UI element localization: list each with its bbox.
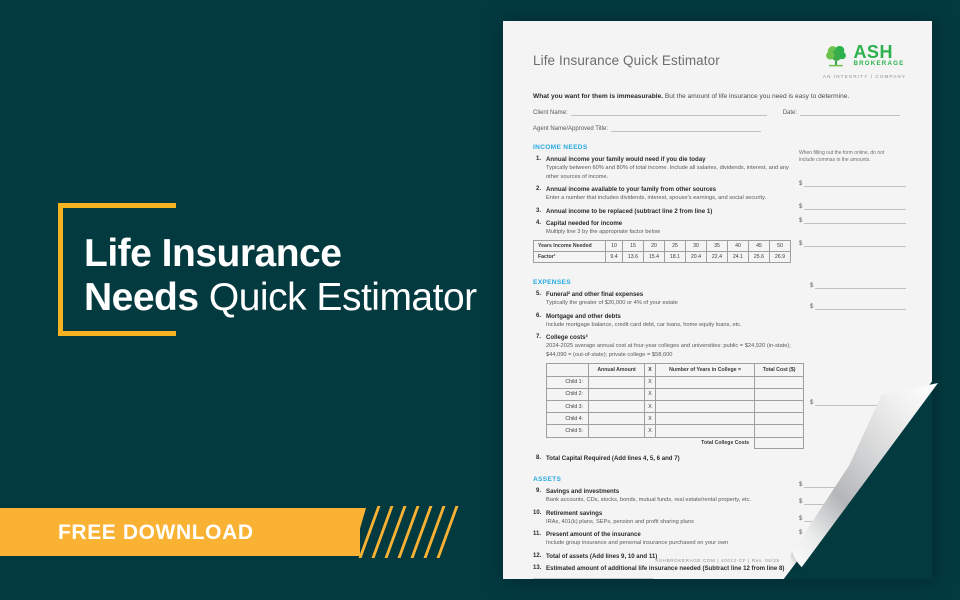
item-title-suffix: (Add lines 4, 5, 6 and 7) bbox=[610, 455, 679, 462]
factor-year-cell: 40 bbox=[727, 241, 748, 252]
promo-title-line1: Life Insurance bbox=[84, 232, 504, 276]
col-header-annual-amount: Annual Amount bbox=[589, 364, 645, 376]
times-symbol: X bbox=[645, 388, 656, 400]
list-item: 11. Present amount of the insurance Incl… bbox=[533, 531, 793, 548]
child-total-input[interactable] bbox=[755, 388, 804, 400]
table-row: Child 5: X bbox=[547, 425, 804, 437]
document-header: Life Insurance Quick Estimator bbox=[533, 43, 906, 80]
list-item: 2. Annual income available to your famil… bbox=[533, 186, 793, 203]
document-title: Life Insurance Quick Estimator bbox=[533, 53, 720, 68]
child-total-input[interactable] bbox=[755, 425, 804, 437]
college-costs-table[interactable]: Annual Amount X Number of Years in Colle… bbox=[546, 363, 804, 449]
amount-input-5[interactable] bbox=[815, 281, 906, 289]
child-label: Child 2: bbox=[547, 388, 589, 400]
table-header-row: Annual Amount X Number of Years in Colle… bbox=[547, 364, 804, 376]
dollar-sign-icon: $ bbox=[799, 516, 802, 522]
item-title: Annual income to be replaced bbox=[546, 208, 633, 215]
promo-title-line2: Needs Quick Estimator bbox=[84, 276, 504, 320]
list-item: 6. Mortgage and other debts Include mort… bbox=[533, 313, 804, 330]
amount-line-4[interactable]: $ bbox=[799, 239, 906, 247]
item-title: Annual income your family would need if … bbox=[546, 156, 705, 163]
table-total-row: Total College Costs bbox=[547, 437, 804, 449]
child-annual-input[interactable] bbox=[589, 376, 645, 388]
ash-brokerage-logo: ASH BROKERAGE AN INTEGRITY Ⅰ COMPANY bbox=[823, 43, 906, 80]
child-years-input[interactable] bbox=[655, 425, 754, 437]
table-row: Years Income Needed 10 15 20 25 30 35 40… bbox=[534, 241, 791, 252]
logo-tagline: AN INTEGRITY Ⅰ COMPANY bbox=[823, 74, 906, 80]
factor-table: Years Income Needed 10 15 20 25 30 35 40… bbox=[533, 240, 791, 263]
list-item: 3. Annual income to be replaced (subtrac… bbox=[533, 208, 793, 215]
total-college-costs-label: Total College Costs bbox=[655, 437, 754, 449]
child-annual-input[interactable] bbox=[589, 400, 645, 412]
dollar-sign-icon: $ bbox=[799, 204, 802, 210]
item-description: Typically the greater of $20,000 or 4% o… bbox=[546, 299, 804, 308]
child-years-input[interactable] bbox=[655, 376, 754, 388]
document-preview[interactable]: Life Insurance Quick Estimator bbox=[503, 21, 932, 579]
child-label: Child 4: bbox=[547, 413, 589, 425]
agent-name-input[interactable] bbox=[611, 124, 761, 132]
logo-name: ASH bbox=[853, 43, 904, 61]
times-symbol: X bbox=[645, 425, 656, 437]
item-number: 4. bbox=[533, 220, 546, 237]
col-header-years-in-college: Number of Years in College = bbox=[655, 364, 754, 376]
dollar-sign-icon: $ bbox=[799, 181, 802, 187]
factor-value-cell: 25.6 bbox=[748, 252, 769, 263]
item-description: Typically between 60% and 80% of total i… bbox=[546, 164, 793, 181]
amount-line-6[interactable]: $ bbox=[810, 302, 906, 310]
dollar-sign-icon: $ bbox=[799, 482, 802, 488]
list-item: 13. Estimated amount of additional life … bbox=[533, 565, 793, 572]
tagline-rest: But the amount of life insurance you nee… bbox=[663, 93, 849, 100]
item-title: Capital needed for income bbox=[546, 220, 622, 227]
online-form-note: When filling out the form online, do not… bbox=[799, 150, 895, 165]
child-label: Child 5: bbox=[547, 425, 589, 437]
table-row: Child 3: X bbox=[547, 400, 804, 412]
factor-value-cell: 18.1 bbox=[664, 252, 685, 263]
item-title-suffix: (subtract line 2 from line 1) bbox=[633, 208, 713, 215]
dollar-sign-icon: $ bbox=[799, 499, 802, 505]
amount-line-3[interactable]: $ bbox=[799, 216, 906, 224]
factor-year-cell: 15 bbox=[622, 241, 643, 252]
child-total-input[interactable] bbox=[755, 413, 804, 425]
promo-title-bold: Needs bbox=[84, 276, 199, 319]
item-description: Include mortgage balance, credit card de… bbox=[546, 321, 804, 330]
logo-subtitle: BROKERAGE bbox=[853, 61, 904, 67]
amount-input-4[interactable] bbox=[804, 239, 906, 247]
amount-line-2[interactable]: $ bbox=[799, 202, 906, 210]
item-title: Present amount of the insurance bbox=[546, 531, 641, 538]
item-number: 3. bbox=[533, 208, 546, 215]
factor-year-cell: 30 bbox=[685, 241, 706, 252]
factor-value-cell: 24.1 bbox=[727, 252, 748, 263]
times-symbol: X bbox=[645, 413, 656, 425]
factor-value-cell: 13.6 bbox=[622, 252, 643, 263]
date-label: Date: bbox=[783, 110, 797, 116]
col-header-times: X bbox=[645, 364, 656, 376]
times-symbol: X bbox=[645, 376, 656, 388]
child-years-input[interactable] bbox=[655, 388, 754, 400]
section-heading-income-needs: INCOME NEEDS bbox=[533, 144, 793, 151]
item-description: Include group insurance and personal ins… bbox=[546, 539, 793, 548]
item-number: 5. bbox=[533, 291, 546, 308]
factor-value-cell: 22.4 bbox=[706, 252, 727, 263]
promo-title-light: Quick Estimator bbox=[209, 276, 477, 319]
table-row: Factor¹ 9.4 13.6 15.4 18.1 20.4 22.4 24.… bbox=[534, 252, 791, 263]
decorative-stripes bbox=[368, 508, 460, 556]
child-label: Child 1: bbox=[547, 376, 589, 388]
child-annual-input[interactable] bbox=[589, 425, 645, 437]
factor-year-cell: 35 bbox=[706, 241, 727, 252]
factor-year-cell: 10 bbox=[606, 241, 623, 252]
dollar-sign-icon: $ bbox=[799, 218, 802, 224]
section-heading-assets: ASSETS bbox=[533, 476, 793, 483]
amount-input-1[interactable] bbox=[804, 179, 906, 187]
free-download-banner[interactable]: FREE DOWNLOAD bbox=[0, 508, 420, 556]
dollar-sign-icon: $ bbox=[810, 400, 813, 406]
amount-line-1[interactable]: $ bbox=[799, 179, 906, 187]
client-name-field[interactable]: Client Name: bbox=[533, 108, 767, 116]
section-heading-expenses: EXPENSES bbox=[533, 279, 804, 286]
item-description: IRAs, 401(k) plans, SEPs, pension and pr… bbox=[546, 518, 793, 527]
dollar-sign-icon: $ bbox=[799, 241, 802, 247]
item-title: Retirement savings bbox=[546, 510, 602, 517]
item-number: 6. bbox=[533, 313, 546, 330]
list-item: 10. Retirement savings IRAs, 401(k) plan… bbox=[533, 510, 793, 527]
factor-table-row-label-factor: Factor¹ bbox=[534, 252, 606, 263]
item-title: Estimated amount of additional life insu… bbox=[546, 565, 701, 572]
item-number: 13. bbox=[533, 565, 546, 572]
item-title: Total Capital Required bbox=[546, 455, 610, 462]
free-download-label: FREE DOWNLOAD bbox=[58, 521, 254, 545]
item-number: 7. bbox=[533, 334, 546, 449]
col-header-blank bbox=[547, 364, 589, 376]
date-field[interactable]: Date: bbox=[783, 108, 900, 116]
item-description: Bank accounts, CDs, stocks, bonds, mutua… bbox=[546, 496, 793, 505]
client-name-input[interactable] bbox=[571, 108, 767, 116]
child-annual-input[interactable] bbox=[589, 388, 645, 400]
item-title: College costs³ bbox=[546, 334, 588, 341]
child-years-input[interactable] bbox=[655, 413, 754, 425]
item-description: Enter a number that includes dividends, … bbox=[546, 194, 793, 203]
tagline-bold: What you want for them is immeasurable. bbox=[533, 93, 663, 100]
client-name-label: Client Name: bbox=[533, 110, 568, 116]
item-title: Annual income available to your family f… bbox=[546, 186, 716, 193]
item-title: Mortgage and other debts bbox=[546, 313, 621, 320]
factor-value-cell: 26.9 bbox=[769, 252, 790, 263]
list-item: 4. Capital needed for income Multiply li… bbox=[533, 220, 793, 237]
item-number: 2. bbox=[533, 186, 546, 203]
tree-icon bbox=[824, 43, 849, 68]
list-item: 8. Total Capital Required (Add lines 4, … bbox=[533, 455, 804, 462]
factor-year-cell: 25 bbox=[664, 241, 685, 252]
amount-input-6[interactable] bbox=[815, 302, 906, 310]
footnote-divider bbox=[533, 578, 653, 579]
table-row: Child 2: X bbox=[547, 388, 804, 400]
date-input[interactable] bbox=[800, 108, 900, 116]
promo-title: Life Insurance Needs Quick Estimator bbox=[84, 232, 504, 319]
amount-input-2[interactable] bbox=[804, 202, 906, 210]
list-item: 5. Funeral² and other final expenses Typ… bbox=[533, 291, 804, 308]
factor-year-cell: 20 bbox=[643, 241, 664, 252]
item-description: Multiply line 3 by the appropriate facto… bbox=[546, 228, 793, 237]
item-number: 10. bbox=[533, 510, 546, 527]
factor-year-cell: 45 bbox=[748, 241, 769, 252]
income-amounts-column: When filling out the form online, do not… bbox=[793, 132, 906, 263]
item-number: 9. bbox=[533, 488, 546, 505]
table-row: Child 4: X bbox=[547, 413, 804, 425]
item-title: Savings and investments bbox=[546, 488, 619, 495]
list-item: 1. Annual income your family would need … bbox=[533, 156, 793, 181]
child-total-input[interactable] bbox=[755, 400, 804, 412]
dollar-sign-icon: $ bbox=[799, 530, 802, 536]
document-tagline: What you want for them is immeasurable. … bbox=[533, 93, 906, 100]
client-field-row: Client Name: Date: bbox=[533, 108, 906, 116]
item-number: 1. bbox=[533, 156, 546, 181]
item-title: Funeral² and other final expenses bbox=[546, 291, 643, 298]
col-header-total-cost: Total Cost ($) bbox=[755, 364, 804, 376]
agent-field-row: Agent Name/Approved Title: bbox=[533, 124, 906, 132]
times-symbol: X bbox=[645, 400, 656, 412]
child-years-input[interactable] bbox=[655, 400, 754, 412]
child-annual-input[interactable] bbox=[589, 413, 645, 425]
list-item: 7. College costs³ 2024-2025 average annu… bbox=[533, 334, 804, 449]
factor-table-row-label-years: Years Income Needed bbox=[534, 241, 606, 252]
dollar-sign-icon: $ bbox=[810, 304, 813, 310]
dollar-sign-icon: $ bbox=[810, 283, 813, 289]
list-item: 9. Savings and investments Bank accounts… bbox=[533, 488, 793, 505]
item-number: 8. bbox=[533, 455, 546, 462]
agent-name-field[interactable]: Agent Name/Approved Title: bbox=[533, 124, 761, 132]
item-number: 11. bbox=[533, 531, 546, 548]
factor-value-cell: 20.4 bbox=[685, 252, 706, 263]
item-description: 2024-2025 average annual cost at four-ye… bbox=[546, 342, 804, 359]
child-label: Child 3: bbox=[547, 400, 589, 412]
total-college-costs-input[interactable] bbox=[755, 437, 804, 449]
factor-value-cell: 9.4 bbox=[606, 252, 623, 263]
child-total-input[interactable] bbox=[755, 376, 804, 388]
amount-input-3[interactable] bbox=[804, 216, 906, 224]
table-row: Child 1: X bbox=[547, 376, 804, 388]
factor-year-cell: 50 bbox=[769, 241, 790, 252]
item-title-suffix: (Subtract line 12 from line 8) bbox=[701, 565, 785, 572]
factor-value-cell: 15.4 bbox=[643, 252, 664, 263]
amount-line-5[interactable]: $ bbox=[810, 281, 906, 289]
